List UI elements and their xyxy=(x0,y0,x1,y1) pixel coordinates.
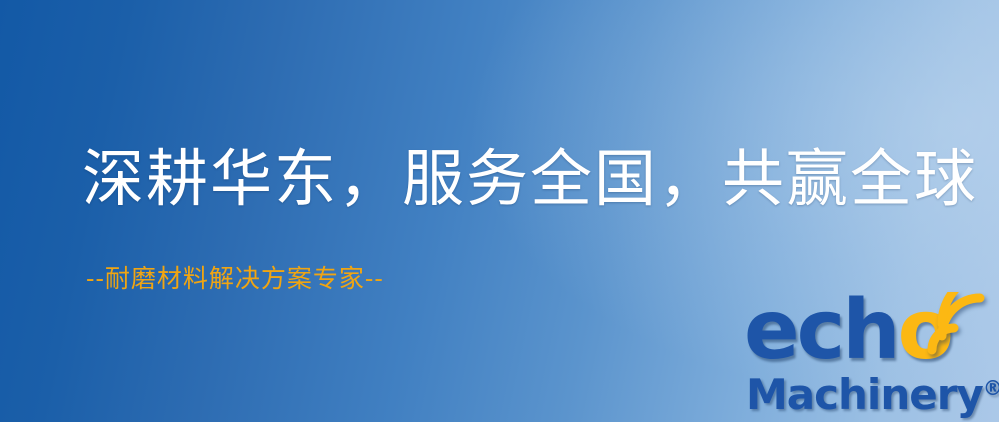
logo-brandline: Machinery® xyxy=(746,374,999,416)
registered-trademark-icon: ® xyxy=(983,376,999,400)
logo-brandline-text: Machinery xyxy=(746,370,983,419)
page-subtitle: --耐磨材料解决方案专家-- xyxy=(86,266,384,291)
logo-wordmark-prefix: ech xyxy=(744,283,898,378)
page-title: 深耕华东，服务全国，共赢全球 xyxy=(82,148,978,210)
logo-wordmark: echo xyxy=(744,290,951,372)
company-logo[interactable]: echo Machinery® xyxy=(744,296,996,418)
signal-waves-icon xyxy=(926,292,996,356)
hero-banner: 深耕华东，服务全国，共赢全球 --耐磨材料解决方案专家-- echo Machi… xyxy=(0,0,999,422)
